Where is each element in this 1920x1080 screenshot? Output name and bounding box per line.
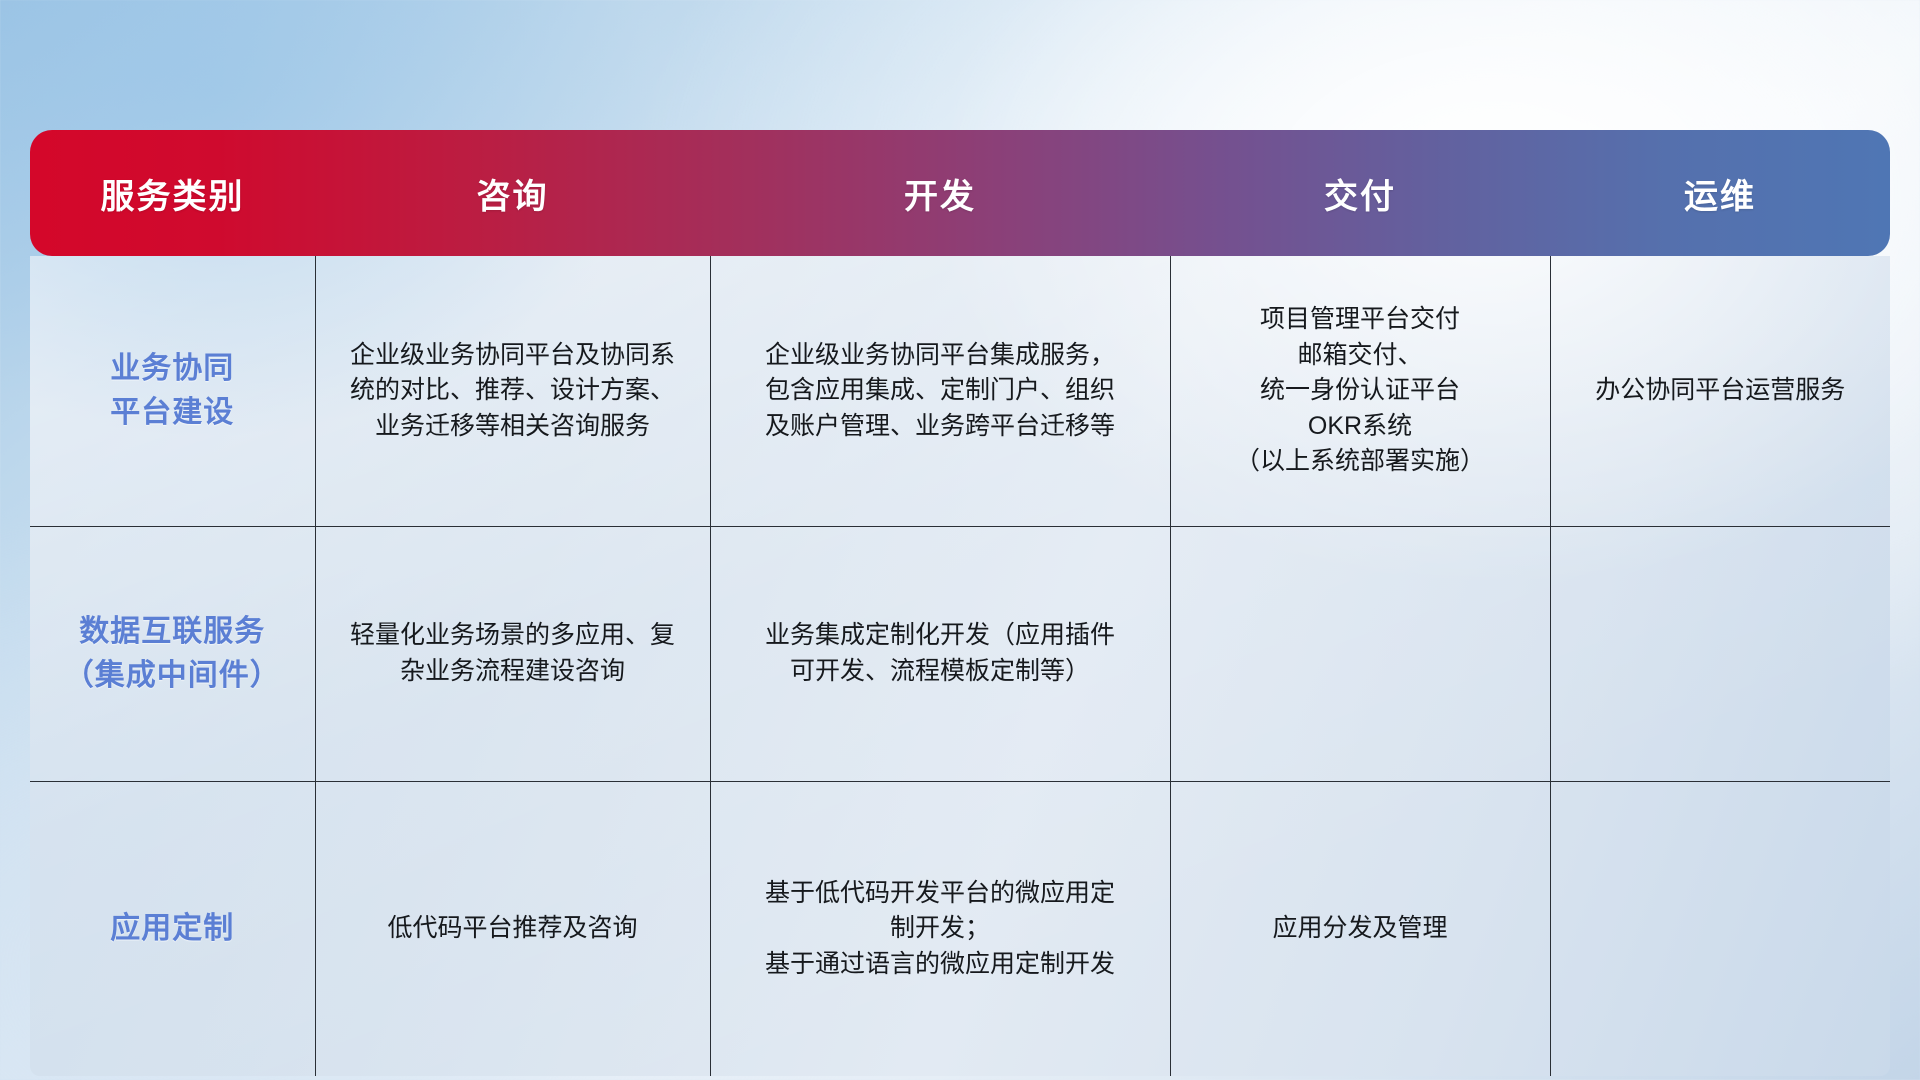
- service-matrix-container: 服务类别 咨询 开发 交付 运维: [30, 130, 1890, 1076]
- cell-development: 企业级业务协同平台集成服务， 包含应用集成、定制门户、组织 及账户管理、业务跨平…: [710, 256, 1170, 526]
- table-row: 业务协同 平台建设 企业级业务协同平台及协同系 统的对比、推荐、设计方案、 业务…: [30, 256, 1890, 526]
- cell-delivery: 项目管理平台交付 邮箱交付、 统一身份认证平台 OKR系统 （以上系统部署实施）: [1170, 256, 1550, 526]
- column-header-delivery-label: 交付: [1324, 178, 1396, 216]
- cell-consulting: 企业级业务协同平台及协同系 统的对比、推荐、设计方案、 业务迁移等相关咨询服务: [315, 256, 710, 526]
- cell-development-text: 基于低代码开发平台的微应用定 制开发； 基于通过语言的微应用定制开发: [729, 876, 1152, 983]
- page-root: 服务类别 咨询 开发 交付 运维: [0, 0, 1920, 1080]
- cell-delivery: [1170, 526, 1550, 781]
- table-body: 业务协同 平台建设 企业级业务协同平台及协同系 统的对比、推荐、设计方案、 业务…: [30, 256, 1890, 1076]
- table-header: 服务类别 咨询 开发 交付 运维: [30, 130, 1890, 256]
- cell-delivery-text: 项目管理平台交付 邮箱交付、 统一身份认证平台 OKR系统 （以上系统部署实施）: [1189, 302, 1532, 480]
- column-header-development: 开发: [710, 130, 1170, 256]
- column-header-operations-label: 运维: [1684, 178, 1756, 216]
- cell-delivery: 应用分发及管理: [1170, 781, 1550, 1076]
- row-label-app-customization: 应用定制: [48, 907, 297, 951]
- cell-development: 基于低代码开发平台的微应用定 制开发； 基于通过语言的微应用定制开发: [710, 781, 1170, 1076]
- column-header-category-label: 服务类别: [101, 178, 245, 216]
- cell-operations: 办公协同平台运营服务: [1550, 256, 1890, 526]
- row-label-data-interconnect: 数据互联服务 （集成中间件）: [48, 610, 297, 697]
- column-header-development-label: 开发: [904, 178, 976, 216]
- column-header-category: 服务类别: [30, 130, 315, 256]
- service-matrix-table: 服务类别 咨询 开发 交付 运维: [30, 130, 1890, 1076]
- row-label-cell: 应用定制: [30, 781, 315, 1076]
- cell-operations: [1550, 781, 1890, 1076]
- cell-operations-text: 办公协同平台运营服务: [1569, 373, 1873, 409]
- cell-development-text: 企业级业务协同平台集成服务， 包含应用集成、定制门户、组织 及账户管理、业务跨平…: [729, 338, 1152, 445]
- cell-consulting-text: 轻量化业务场景的多应用、复 杂业务流程建设咨询: [334, 618, 692, 689]
- cell-operations: [1550, 526, 1890, 781]
- header-row: 服务类别 咨询 开发 交付 运维: [30, 130, 1890, 256]
- cell-delivery-text: 应用分发及管理: [1189, 911, 1532, 947]
- cell-consulting: 轻量化业务场景的多应用、复 杂业务流程建设咨询: [315, 526, 710, 781]
- cell-development-text: 业务集成定制化开发（应用插件 可开发、流程模板定制等）: [729, 618, 1152, 689]
- cell-development: 业务集成定制化开发（应用插件 可开发、流程模板定制等）: [710, 526, 1170, 781]
- column-header-operations: 运维: [1550, 130, 1890, 256]
- row-label-cell: 业务协同 平台建设: [30, 256, 315, 526]
- row-label-business-collaboration: 业务协同 平台建设: [48, 347, 297, 434]
- row-label-cell: 数据互联服务 （集成中间件）: [30, 526, 315, 781]
- cell-consulting-text: 低代码平台推荐及咨询: [334, 911, 692, 947]
- table-row: 应用定制 低代码平台推荐及咨询 基于低代码开发平台的微应用定 制开发； 基于通过…: [30, 781, 1890, 1076]
- column-header-consulting: 咨询: [315, 130, 710, 256]
- cell-consulting-text: 企业级业务协同平台及协同系 统的对比、推荐、设计方案、 业务迁移等相关咨询服务: [334, 338, 692, 445]
- cell-consulting: 低代码平台推荐及咨询: [315, 781, 710, 1076]
- column-header-delivery: 交付: [1170, 130, 1550, 256]
- column-header-consulting-label: 咨询: [477, 178, 549, 216]
- table-row: 数据互联服务 （集成中间件） 轻量化业务场景的多应用、复 杂业务流程建设咨询 业…: [30, 526, 1890, 781]
